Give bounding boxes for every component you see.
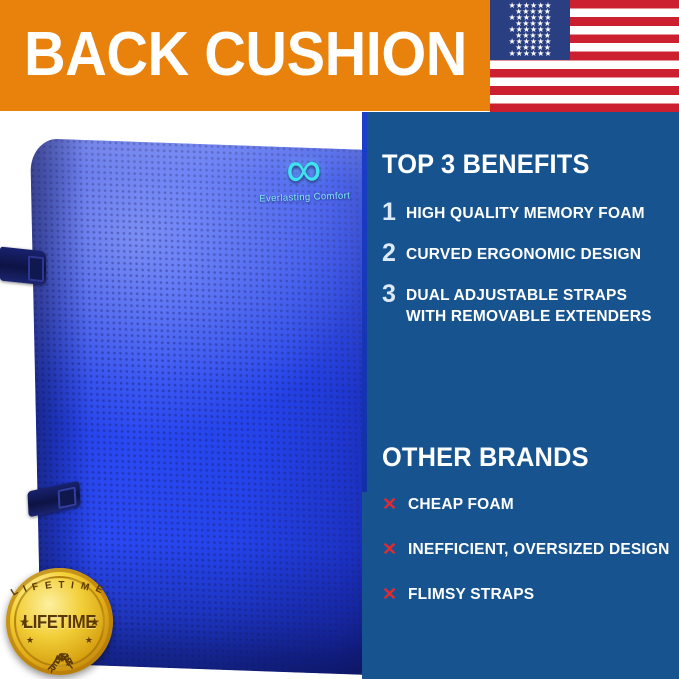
infinity-icon: ∞ — [251, 147, 356, 191]
badge-star-icon: ★ — [26, 634, 34, 646]
brand-logo: ∞ Everlasting Comfort — [251, 147, 357, 205]
cross-icon: ✕ — [382, 494, 408, 514]
page-title: BACK CUSHION — [24, 16, 443, 94]
other-brand-label: CHEAP FOAM — [408, 494, 514, 515]
lifetime-replacement-badge: LIFETIME LIFETIME REPLACEMENT ★ ★ ★ ★ — [6, 568, 113, 675]
badge-arc-top: LIFETIME — [6, 580, 113, 591]
benefit-number: 1 — [382, 200, 406, 225]
flag-star-row: ★★★★★★ — [490, 50, 570, 58]
benefits-list: 1 HIGH QUALITY MEMORY FOAM 2 CURVED ERGO… — [382, 200, 672, 343]
benefit-number: 2 — [382, 241, 406, 266]
cross-icon: ✕ — [382, 584, 408, 604]
other-brand-label: INEFFICIENT, OVERSIZED DESIGN — [408, 539, 670, 560]
upper-strap — [0, 247, 46, 286]
benefit-item: 2 CURVED ERGONOMIC DESIGN — [382, 241, 672, 266]
badge-star-icon: ★ — [89, 616, 100, 628]
flag-canton: ★★★★★★ ★★★★★ ★★★★★★ ★★★★★ ★★★★★★ ★★★★★ ★… — [490, 0, 570, 60]
info-panel-content: TOP 3 BENEFITS 1 HIGH QUALITY MEMORY FOA… — [362, 112, 679, 679]
other-brands-list: ✕ CHEAP FOAM ✕ INEFFICIENT, OVERSIZED DE… — [382, 494, 672, 629]
other-brand-item: ✕ INEFFICIENT, OVERSIZED DESIGN — [382, 539, 672, 560]
product-photo: ∞ Everlasting Comfort LIFETIME LIFETIME … — [0, 111, 362, 679]
upper-strap-buckle — [28, 256, 44, 283]
benefit-label: CURVED ERGONOMIC DESIGN — [406, 241, 641, 265]
other-brands-heading: OTHER BRANDS — [382, 442, 589, 472]
benefit-item: 1 HIGH QUALITY MEMORY FOAM — [382, 200, 672, 225]
lower-strap-buckle — [58, 486, 77, 509]
badge-star-icon: ★ — [19, 616, 30, 628]
benefit-item: 3 DUAL ADJUSTABLE STRAPS WITH REMOVABLE … — [382, 282, 672, 327]
benefit-number: 3 — [382, 282, 406, 307]
benefit-label: DUAL ADJUSTABLE STRAPS WITH REMOVABLE EX… — [406, 282, 672, 327]
badge-star-icon: ★ — [85, 634, 93, 646]
benefits-heading: TOP 3 BENEFITS — [382, 149, 590, 179]
benefit-label: HIGH QUALITY MEMORY FOAM — [406, 200, 645, 224]
badge-arc-bottom: REPLACEMENT — [6, 652, 113, 663]
cross-icon: ✕ — [382, 539, 408, 559]
usa-flag-icon: ★★★★★★ ★★★★★ ★★★★★★ ★★★★★ ★★★★★★ ★★★★★ ★… — [490, 0, 679, 112]
other-brand-item: ✕ CHEAP FOAM — [382, 494, 672, 515]
header-banner: BACK CUSHION — [0, 0, 491, 111]
product-infographic: BACK CUSHION ★★★★★★ ★★★★★ ★★★★★★ ★★★★★ ★… — [0, 0, 679, 679]
other-brand-label: FLIMSY STRAPS — [408, 584, 534, 605]
other-brand-item: ✕ FLIMSY STRAPS — [382, 584, 672, 605]
